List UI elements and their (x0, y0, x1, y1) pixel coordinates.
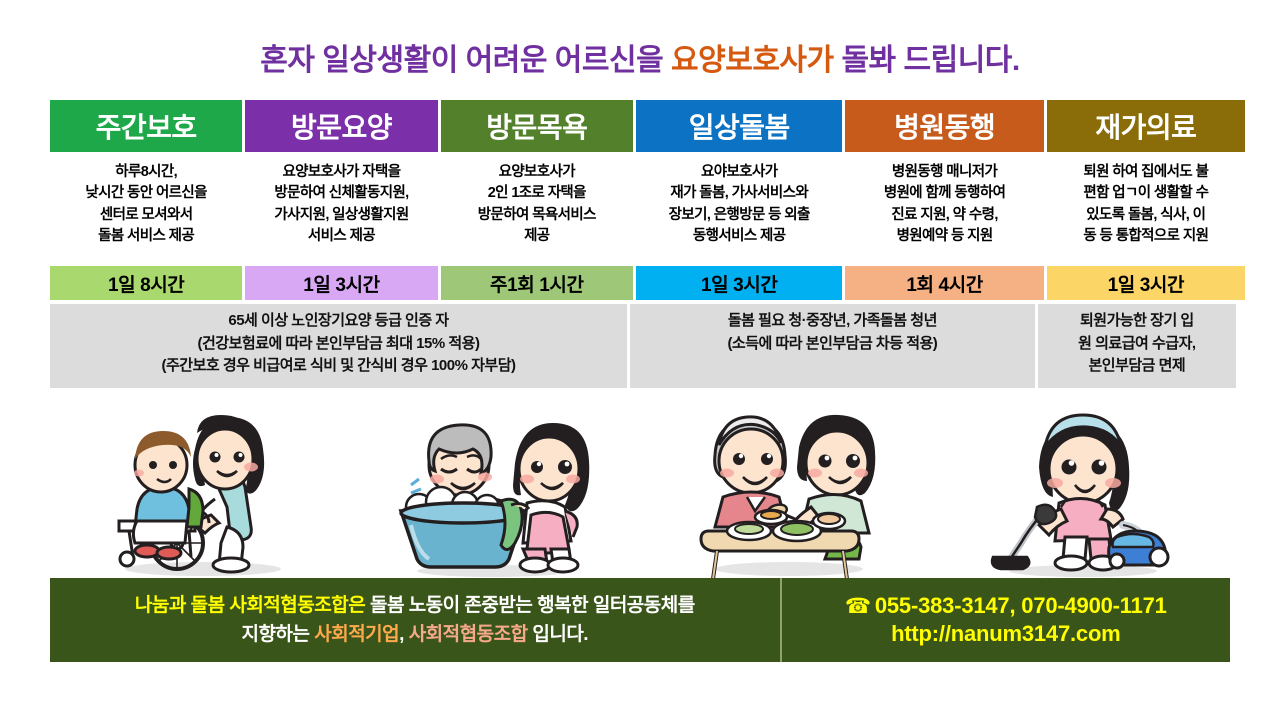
service-duration-home-medical: 1일 3시간 (1047, 266, 1245, 300)
footer-website[interactable]: http://nanum3147.com (891, 621, 1120, 647)
eligibility-daily-care: 돌봄 필요 청·중장년, 가족돌봄 청년 (소득에 따라 본인부담금 차등 적용… (630, 304, 1035, 388)
eligibility-row: 65세 이상 노인장기요양 등급 인증 자 (건강보험료에 따라 본인부담금 최… (50, 304, 1230, 388)
illustrations-row (50, 388, 1230, 578)
service-description-daily-care: 요야보호사가 재가 돌봄, 가사서비스와 장보기, 은행방문 등 외출 동행서비… (636, 160, 843, 266)
service-header-daycare[interactable]: 주간보호 (50, 100, 242, 152)
illustration-slot-1 (50, 396, 345, 578)
service-header-row: 주간보호 방문요양 방문목욕 일상돌봄 병원동행 재가의료 (50, 100, 1230, 152)
bathing-care-illustration (393, 403, 593, 578)
illustration-slot-4 (935, 396, 1230, 578)
page-title-bar: 혼자 일상생활이 어려운 어르신을 요양보호사가 돌봐 드립니다. (0, 0, 1280, 100)
footer-statement-3: 입니다. (528, 624, 589, 645)
page-title-highlight: 요양보호사가 (671, 44, 834, 77)
footer-statement-1: 돌봄 노동이 존중받는 행복한 일터공동체를 (365, 595, 695, 616)
illustration-slot-2 (345, 396, 640, 578)
page-title-part2: 돌봐 드립니다. (834, 44, 1020, 77)
footer-coop: 사회적협동조합 (409, 624, 528, 645)
service-description-row: 하루8시간, 낮시간 동안 어르신을 센터로 모셔와서 돌봄 서비스 제공 요양… (50, 152, 1230, 266)
service-header-home-nursing[interactable]: 방문요양 (245, 100, 437, 152)
footer-org-statement: 나눔과 돌봄 사회적협동조합은 돌봄 노동이 존중받는 행복한 일터공동체를 지… (50, 578, 782, 662)
meal-care-illustration (685, 403, 890, 578)
service-description-hospital-escort: 병원동행 매니저가 병원에 함께 동행하여 진료 지원, 약 수령, 병원예약 … (845, 160, 1043, 266)
service-header-home-bathing[interactable]: 방문목욕 (441, 100, 633, 152)
service-description-home-medical: 퇴원 하여 집에서도 불 편함 업ㄱ이 생활할 수 있도록 돌봄, 식사, 이 … (1047, 160, 1245, 266)
services-table: 주간보호 방문요양 방문목욕 일상돌봄 병원동행 재가의료 하루8시간, 낮시간… (50, 100, 1230, 388)
page-title-part1: 혼자 일상생활이 어려운 어르신을 (260, 44, 671, 77)
footer-statement-2: 지향하는 (242, 624, 315, 645)
service-header-daily-care[interactable]: 일상돌봄 (636, 100, 843, 152)
service-duration-home-bathing: 주1회 1시간 (441, 266, 633, 300)
service-description-home-bathing: 요양보호사가 2인 1조로 자택을 방문하여 목욕서비스 제공 (441, 160, 633, 266)
service-duration-hospital-escort: 1회 4시간 (845, 266, 1043, 300)
footer-phone-line[interactable]: ☎055-383-3147, 070-4900-1171 (845, 593, 1167, 619)
service-description-daycare: 하루8시간, 낮시간 동안 어르신을 센터로 모셔와서 돌봄 서비스 제공 (50, 160, 242, 266)
service-header-home-medical[interactable]: 재가의료 (1047, 100, 1245, 152)
wheelchair-care-illustration (103, 403, 293, 578)
footer-phone-numbers[interactable]: 055-383-3147, 070-4900-1171 (875, 593, 1167, 618)
footer-contact: ☎055-383-3147, 070-4900-1171 http://nanu… (782, 578, 1230, 662)
service-duration-daily-care: 1일 3시간 (636, 266, 843, 300)
service-duration-row: 1일 8시간 1일 3시간 주1회 1시간 1일 3시간 1회 4시간 1일 3… (50, 266, 1230, 300)
footer-statement-comma: , (399, 624, 409, 645)
phone-icon: ☎ (845, 595, 871, 618)
service-duration-home-nursing: 1일 3시간 (245, 266, 437, 300)
housekeeping-illustration (983, 403, 1183, 578)
footer-org-name: 나눔과 돌봄 사회적협동조합은 (135, 595, 365, 616)
footer-banner: 나눔과 돌봄 사회적협동조합은 돌봄 노동이 존중받는 행복한 일터공동체를 지… (50, 578, 1230, 662)
illustration-slot-3 (640, 396, 935, 578)
footer-social-enterprise: 사회적기업 (314, 624, 399, 645)
service-header-hospital-escort[interactable]: 병원동행 (845, 100, 1043, 152)
page-title: 혼자 일상생활이 어려운 어르신을 요양보호사가 돌봐 드립니다. (260, 35, 1019, 79)
eligibility-longterm-care: 65세 이상 노인장기요양 등급 인증 자 (건강보험료에 따라 본인부담금 최… (50, 304, 627, 388)
service-duration-daycare: 1일 8시간 (50, 266, 242, 300)
service-description-home-nursing: 요양보호사가 자택을 방문하여 신체활동지원, 가사지원, 일상생활지원 서비스… (245, 160, 437, 266)
eligibility-home-medical: 퇴원가능한 장기 입 원 의료급여 수급자, 본인부담금 면제 (1038, 304, 1236, 388)
